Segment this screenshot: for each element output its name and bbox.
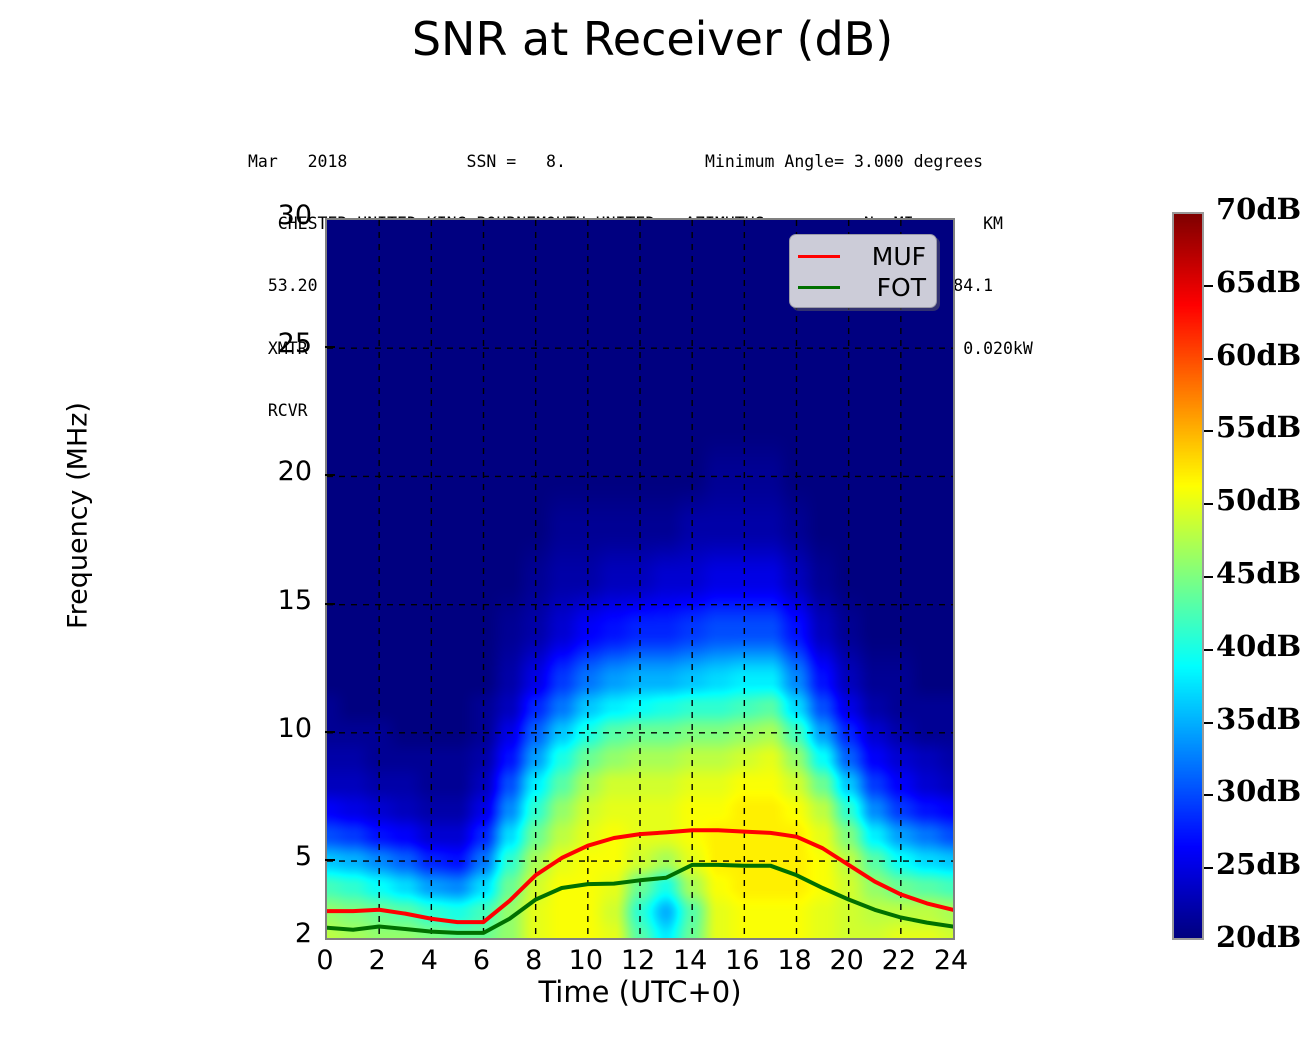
legend-item-fot[interactable]: FOT <box>798 272 926 303</box>
y-tick-mark-20 <box>325 474 335 476</box>
colorbar-tick-30 <box>1204 794 1213 796</box>
y-tick-label-25: 25 <box>278 328 312 359</box>
fot-line-swatch-icon <box>798 286 840 289</box>
y-tick-label-30: 30 <box>278 200 312 231</box>
colorbar-label-70: 70dB <box>1216 192 1301 226</box>
x-tick-label-2: 2 <box>352 945 402 976</box>
y-tick-mark-10 <box>325 731 335 733</box>
x-tick-label-12: 12 <box>613 945 663 976</box>
header-line-1: Mar 2018 SSN = 8. Minimum Angle= 3.000 d… <box>248 152 1033 173</box>
y-tick-mark-15 <box>325 603 335 605</box>
page-title: SNR at Receiver (dB) <box>0 12 1305 66</box>
x-tick-label-16: 16 <box>717 945 767 976</box>
colorbar-tick-45 <box>1204 576 1213 578</box>
x-tick-label-22: 22 <box>874 945 924 976</box>
legend-label-fot: FOT <box>850 275 926 300</box>
x-tick-label-24: 24 <box>926 945 976 976</box>
x-tick-label-4: 4 <box>404 945 454 976</box>
colorbar-gradient <box>1174 214 1202 938</box>
colorbar-label-45: 45dB <box>1216 556 1301 590</box>
colorbar-label-65: 65dB <box>1216 265 1301 299</box>
muf-line-swatch-icon <box>798 255 840 258</box>
colorbar-label-20: 20dB <box>1216 920 1301 954</box>
colorbar-tick-50 <box>1204 503 1213 505</box>
colorbar-tick-25 <box>1204 867 1213 869</box>
x-axis-label: Time (UTC+0) <box>325 975 955 1009</box>
legend-label-muf: MUF <box>850 244 926 269</box>
colorbar <box>1172 212 1204 940</box>
colorbar-label-50: 50dB <box>1216 483 1301 517</box>
y-tick-label-15: 15 <box>278 585 312 616</box>
y-axis-label: Frequency (MHz) <box>63 366 94 666</box>
colorbar-label-40: 40dB <box>1216 629 1301 663</box>
colorbar-tick-65 <box>1204 285 1213 287</box>
legend-item-muf[interactable]: MUF <box>798 241 926 272</box>
colorbar-tick-35 <box>1204 722 1213 724</box>
y-tick-mark-25 <box>325 346 335 348</box>
y-tick-label-5: 5 <box>295 841 312 872</box>
y-tick-label-20: 20 <box>278 456 312 487</box>
x-tick-label-14: 14 <box>665 945 715 976</box>
y-tick-label-10: 10 <box>278 713 312 744</box>
x-tick-label-18: 18 <box>770 945 820 976</box>
colorbar-label-60: 60dB <box>1216 338 1301 372</box>
y-tick-mark-5 <box>325 859 335 861</box>
x-tick-label-0: 0 <box>300 945 350 976</box>
colorbar-label-55: 55dB <box>1216 410 1301 444</box>
curve-fot <box>327 865 953 933</box>
x-tick-label-10: 10 <box>561 945 611 976</box>
colorbar-label-35: 35dB <box>1216 702 1301 736</box>
plot-area <box>325 218 955 940</box>
x-tick-label-8: 8 <box>509 945 559 976</box>
colorbar-label-25: 25dB <box>1216 847 1301 881</box>
y-axis-ticks: 251015202530 <box>240 0 312 1044</box>
x-tick-label-6: 6 <box>457 945 507 976</box>
legend[interactable]: MUF FOT <box>789 234 937 308</box>
muf-fot-curves <box>327 220 953 938</box>
colorbar-tick-55 <box>1204 430 1213 432</box>
curve-muf <box>327 830 953 922</box>
colorbar-label-30: 30dB <box>1216 774 1301 808</box>
colorbar-tick-40 <box>1204 649 1213 651</box>
x-tick-label-20: 20 <box>822 945 872 976</box>
colorbar-tick-60 <box>1204 358 1213 360</box>
